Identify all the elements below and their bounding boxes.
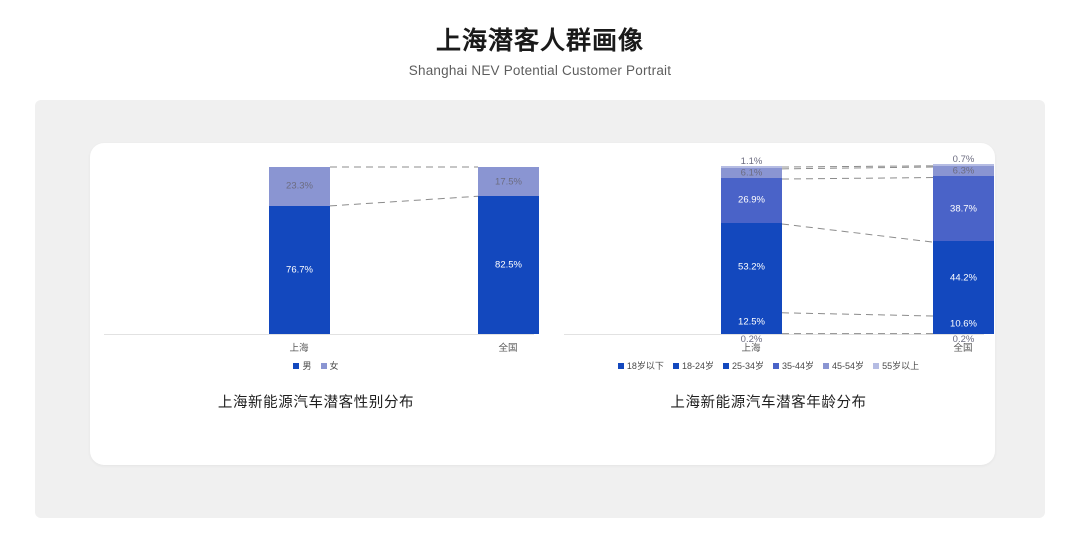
legend-item[interactable]: 18-24岁 [673,359,714,372]
segment-value-label: 6.3% [933,166,994,176]
gender-plot-area: 23.3%76.7% 17.5%82.5% 上海 全国 [90,143,542,358]
segment-value-label: 1.1% [721,157,782,167]
legend-label: 55岁以上 [882,359,919,372]
connector-line [782,224,933,242]
gender-axis-line [104,334,534,335]
segment-value-label: 0.7% [933,155,994,165]
legend-item[interactable]: 35-44岁 [773,359,814,372]
connector-line [782,166,933,167]
legend-item[interactable]: 55岁以上 [873,359,919,372]
bar-segment: 10.6% [933,315,994,333]
legend-swatch-icon [618,363,624,369]
page-header: 上海潜客人群画像 Shanghai NEV Potential Customer… [0,26,1080,78]
legend-item[interactable]: 25-34岁 [723,359,764,372]
segment-value-label: 76.7% [269,265,330,275]
segment-value-label: 6.1% [721,168,782,178]
legend-swatch-icon [823,363,829,369]
segment-value-label: 38.7% [933,204,994,214]
bar-segment: 23.3% [269,167,330,206]
gender-bar-shanghai: 23.3%76.7% [269,167,330,334]
bar-segment: 6.1% [721,168,782,178]
page-title: 上海潜客人群画像 [0,26,1080,57]
legend-label: 女 [330,359,339,372]
connector-line [782,178,933,180]
connector-line [330,196,478,206]
legend-item[interactable]: 45-54岁 [823,359,864,372]
connector-line [782,167,933,169]
legend-label: 18-24岁 [682,359,714,372]
gender-category-label: 上海 [254,340,344,354]
segment-value-label: 17.5% [478,177,539,187]
legend-swatch-icon [293,363,299,369]
legend-label: 25-34岁 [732,359,764,372]
segment-value-label: 44.2% [933,273,994,283]
legend-item[interactable]: 女 [321,359,339,372]
bar-segment: 82.5% [478,196,539,334]
gender-category-label: 全国 [463,340,553,354]
segment-value-label: 12.5% [721,317,782,327]
bar-segment: 76.7% [269,206,330,334]
bar-segment: 38.7% [933,176,994,241]
bar-segment: 12.5% [721,312,782,333]
age-bar-national: 0.7%6.3%38.7%44.2%10.6%0.2% [933,164,994,334]
bar-segment: 26.9% [721,178,782,223]
age-legend: 18岁以下18-24岁25-34岁35-44岁45-54岁55岁以上 [542,359,995,372]
segment-value-label: 23.3% [269,182,330,192]
legend-item[interactable]: 18岁以下 [618,359,664,372]
legend-swatch-icon [321,363,327,369]
legend-label: 45-54岁 [832,359,864,372]
gender-legend: 男女 [90,359,542,372]
legend-swatch-icon [773,363,779,369]
legend-swatch-icon [723,363,729,369]
connector-line [782,313,933,316]
age-category-label: 上海 [706,340,796,354]
bar-segment: 17.5% [478,167,539,196]
segment-value-label: 82.5% [478,260,539,270]
age-chart-caption: 上海新能源汽车潜客年龄分布 [542,391,995,412]
bar-segment: 0.2% [721,333,782,335]
age-axis-line [564,334,984,335]
legend-label: 男 [302,359,311,372]
chart-gender-distribution: 23.3%76.7% 17.5%82.5% 上海 全国 男女 上海新能源汽车潜客… [90,143,542,465]
age-bar-shanghai: 1.1%6.1%26.9%53.2%12.5%0.2% [721,166,782,334]
segment-value-label: 10.6% [933,319,994,329]
legend-swatch-icon [673,363,679,369]
page-subtitle: Shanghai NEV Potential Customer Portrait [0,63,1080,78]
legend-label: 18岁以下 [627,359,664,372]
age-category-label: 全国 [918,340,1008,354]
segment-value-label: 26.9% [721,196,782,206]
segment-value-label: 53.2% [721,262,782,272]
legend-label: 35-44岁 [782,359,814,372]
legend-item[interactable]: 男 [293,359,311,372]
bar-segment: 6.3% [933,166,994,177]
gender-chart-caption: 上海新能源汽车潜客性别分布 [90,391,542,412]
legend-swatch-icon [873,363,879,369]
gender-bar-national: 17.5%82.5% [478,167,539,334]
bar-segment: 53.2% [721,223,782,312]
charts-card: 23.3%76.7% 17.5%82.5% 上海 全国 男女 上海新能源汽车潜客… [90,143,995,465]
bar-segment: 44.2% [933,241,994,315]
bar-segment: 0.2% [933,333,994,335]
age-plot-area: 1.1%6.1%26.9%53.2%12.5%0.2% 0.7%6.3%38.7… [542,143,995,358]
chart-age-distribution: 1.1%6.1%26.9%53.2%12.5%0.2% 0.7%6.3%38.7… [542,143,995,465]
